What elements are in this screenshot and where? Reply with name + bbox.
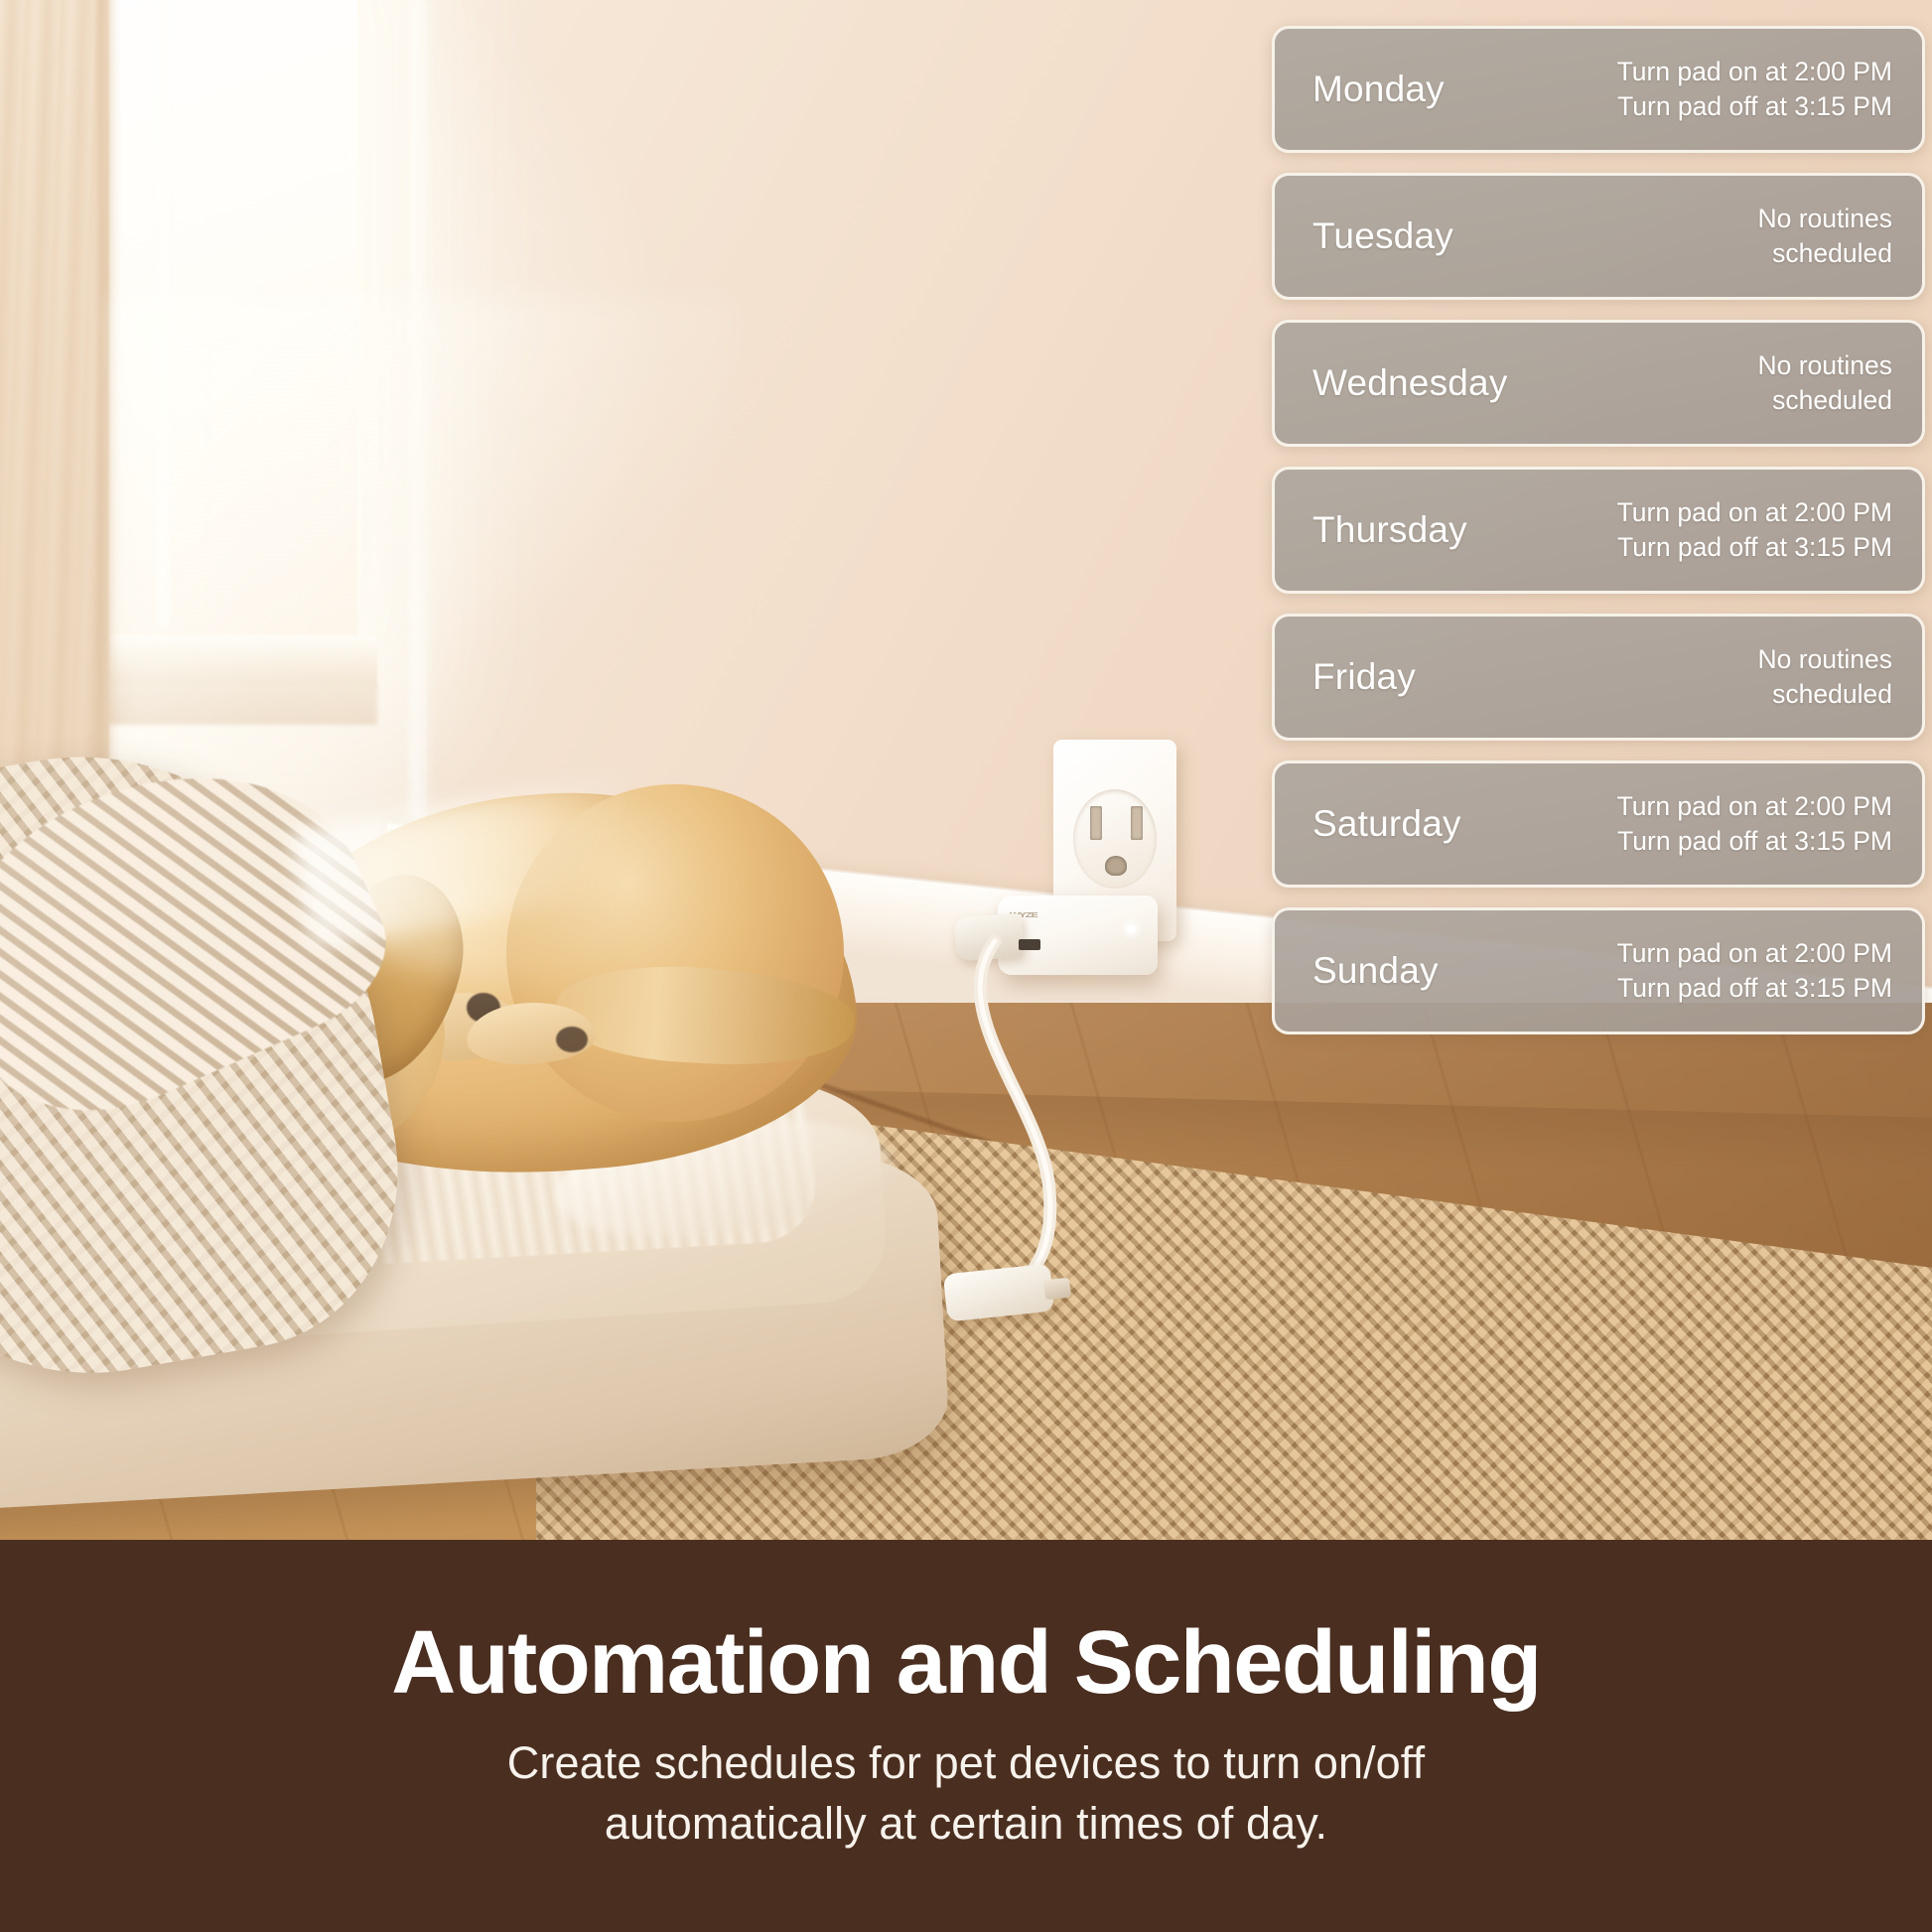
routine-line: No routines xyxy=(1757,642,1892,677)
routine-line: scheduled xyxy=(1757,677,1892,712)
routine-line: Turn pad off at 3:15 PM xyxy=(1617,89,1892,124)
schedule-card-saturday[interactable]: Saturday Turn pad on at 2:00 PM Turn pad… xyxy=(1272,760,1925,888)
schedule-card-friday[interactable]: Friday No routines scheduled xyxy=(1272,614,1925,741)
outlet-slot-right xyxy=(1131,806,1143,840)
curtain-edge-shadow xyxy=(97,0,119,854)
schedule-card-monday[interactable]: Monday Turn pad on at 2:00 PM Turn pad o… xyxy=(1272,26,1925,153)
schedule-card-thursday[interactable]: Thursday Turn pad on at 2:00 PM Turn pad… xyxy=(1272,467,1925,594)
outlet-ground-slot xyxy=(1105,856,1127,876)
routine-line: Turn pad off at 3:15 PM xyxy=(1617,530,1892,565)
schedule-card-wednesday[interactable]: Wednesday No routines scheduled xyxy=(1272,320,1925,447)
day-label: Wednesday xyxy=(1312,362,1508,404)
day-label: Sunday xyxy=(1312,950,1439,992)
banner-subtitle-line-1: Create schedules for pet devices to turn… xyxy=(507,1733,1425,1793)
routine-summary: No routines scheduled xyxy=(1757,202,1892,271)
routine-summary: Turn pad on at 2:00 PM Turn pad off at 3… xyxy=(1617,55,1892,124)
routine-line: Turn pad off at 3:15 PM xyxy=(1617,971,1892,1006)
dog-paw-pad xyxy=(556,1027,588,1052)
weekly-schedule-list: Monday Turn pad on at 2:00 PM Turn pad o… xyxy=(1272,26,1925,1035)
pad-plug-prong xyxy=(1043,1278,1071,1301)
day-label: Friday xyxy=(1312,656,1416,698)
caption-banner: Automation and Scheduling Create schedul… xyxy=(0,1540,1932,1932)
banner-subtitle-line-2: automatically at certain times of day. xyxy=(605,1794,1327,1854)
schedule-card-sunday[interactable]: Sunday Turn pad on at 2:00 PM Turn pad o… xyxy=(1272,907,1925,1035)
promo-graphic: WYZE Monday Turn pad on at 2:00 PM Turn … xyxy=(0,0,1932,1932)
schedule-card-tuesday[interactable]: Tuesday No routines scheduled xyxy=(1272,173,1925,300)
routine-line: scheduled xyxy=(1757,383,1892,418)
day-label: Thursday xyxy=(1312,509,1467,551)
smart-plug-status-led xyxy=(1127,925,1135,933)
routine-summary: Turn pad on at 2:00 PM Turn pad off at 3… xyxy=(1617,495,1892,565)
routine-line: Turn pad on at 2:00 PM xyxy=(1617,936,1892,971)
sheer-curtain xyxy=(0,0,109,874)
routine-line: scheduled xyxy=(1757,236,1892,271)
power-cord xyxy=(933,933,1112,1311)
day-label: Saturday xyxy=(1312,803,1461,845)
day-label: Monday xyxy=(1312,69,1445,110)
routine-line: Turn pad on at 2:00 PM xyxy=(1617,789,1892,824)
routine-line: Turn pad off at 3:15 PM xyxy=(1617,824,1892,859)
routine-line: Turn pad on at 2:00 PM xyxy=(1617,495,1892,530)
routine-line: Turn pad on at 2:00 PM xyxy=(1617,55,1892,89)
routine-line: No routines xyxy=(1757,202,1892,236)
day-label: Tuesday xyxy=(1312,215,1453,257)
routine-line: No routines xyxy=(1757,348,1892,383)
routine-summary: No routines scheduled xyxy=(1757,348,1892,418)
routine-summary: Turn pad on at 2:00 PM Turn pad off at 3… xyxy=(1617,789,1892,859)
routine-summary: No routines scheduled xyxy=(1757,642,1892,712)
banner-headline: Automation and Scheduling xyxy=(391,1618,1540,1708)
routine-summary: Turn pad on at 2:00 PM Turn pad off at 3… xyxy=(1617,936,1892,1006)
outlet-slot-left xyxy=(1090,806,1102,840)
